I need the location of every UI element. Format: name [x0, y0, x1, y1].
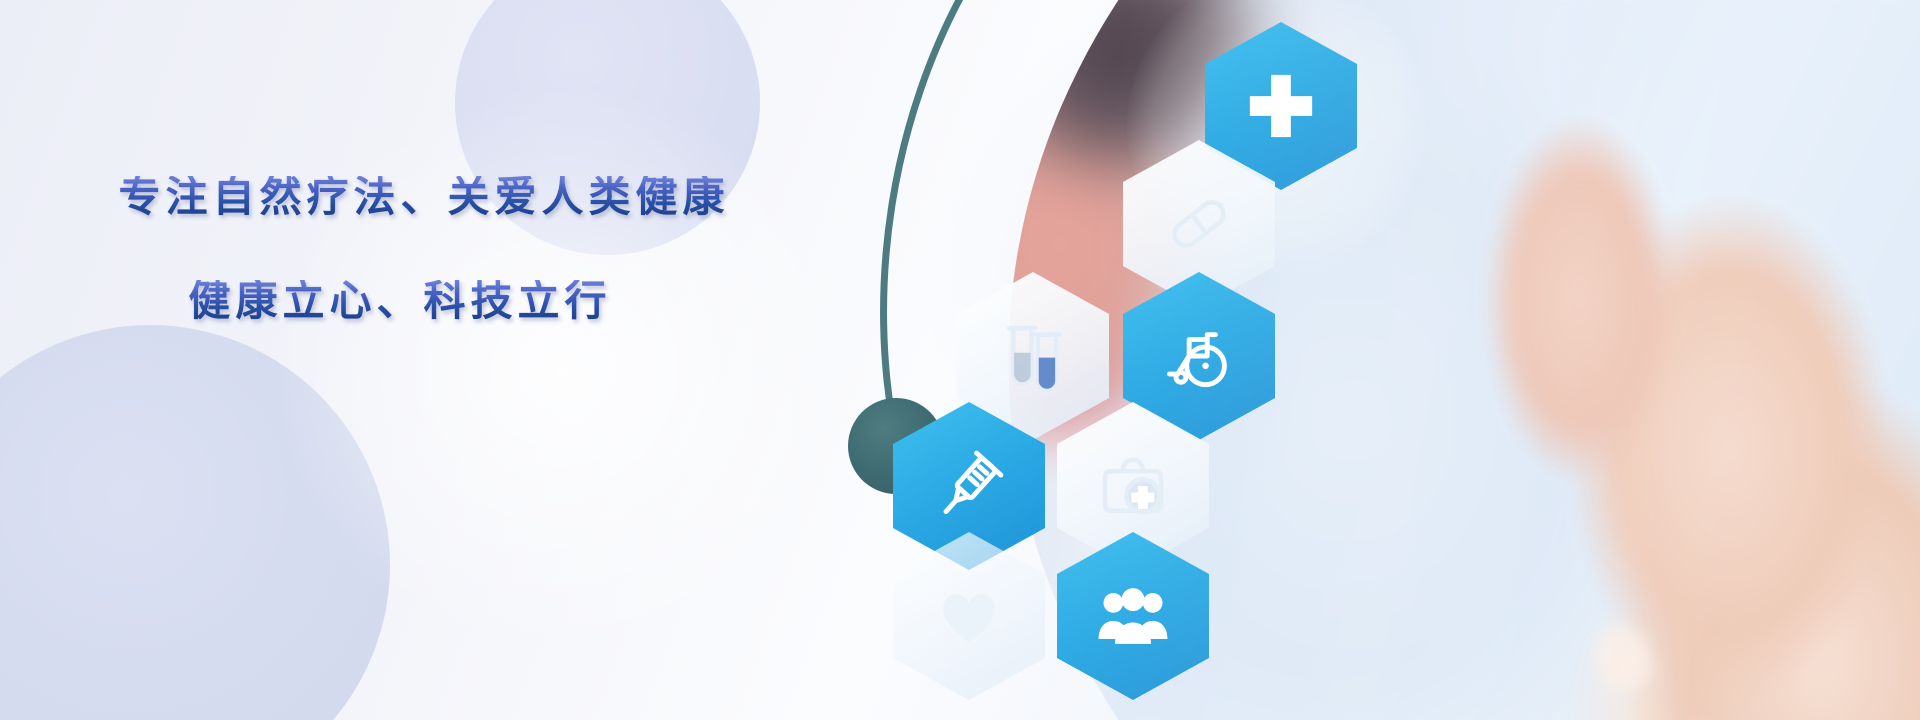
hero-banner: 专注自然疗法、关爱人类健康 健康立心、科技立行: [0, 0, 1920, 720]
syringe-icon: [928, 445, 1010, 527]
heart-icon: [928, 575, 1010, 657]
hex-heart[interactable]: [893, 532, 1045, 700]
headline-line-1: 专注自然疗法、关爱人类健康: [0, 176, 860, 218]
hexagon-icon-cluster: [905, 0, 1465, 720]
pointing-hand: [1400, 120, 1920, 720]
decorative-glow: [250, 60, 870, 680]
hex-people-group[interactable]: [1057, 532, 1209, 700]
capsule-pill-icon: [1158, 183, 1240, 265]
people-group-icon: [1092, 575, 1174, 657]
fingernail: [1587, 618, 1659, 697]
headline-line-2: 健康立心、科技立行: [0, 280, 860, 322]
medical-cross-icon: [1240, 65, 1322, 147]
wheelchair-icon: [1158, 315, 1240, 397]
test-tubes-icon: [992, 315, 1074, 397]
medical-bag-icon: [1092, 445, 1174, 527]
headline-block: 专注自然疗法、关爱人类健康 健康立心、科技立行: [0, 176, 860, 322]
